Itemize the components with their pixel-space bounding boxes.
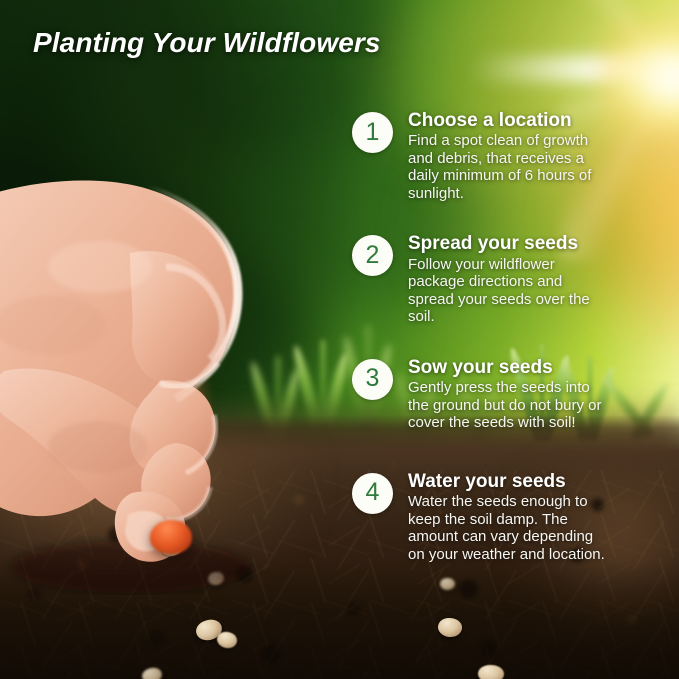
falling-seed [150, 520, 192, 554]
step-body-4: Water the seeds enough to keep the soil … [408, 493, 608, 563]
step-item-1: 1 Choose a location Find a spot clean of… [352, 110, 652, 202]
step-body-1: Find a spot clean of growth and debris, … [408, 132, 608, 202]
step-heading-1: Choose a location [408, 110, 608, 131]
step-number-badge-1: 1 [352, 112, 393, 153]
step-number-2: 2 [366, 243, 380, 268]
step-item-2: 2 Spread your seeds Follow your wildflow… [352, 233, 652, 325]
step-heading-4: Water your seeds [408, 471, 608, 492]
step-item-4: 4 Water your seeds Water the seeds enoug… [352, 471, 652, 563]
step-number-badge-2: 2 [352, 235, 393, 276]
step-item-3: 3 Sow your seeds Gently press the seeds … [352, 357, 652, 432]
step-body-3: Gently press the seeds into the ground b… [408, 379, 608, 432]
step-text-1: Choose a location Find a spot clean of g… [408, 110, 608, 202]
step-heading-3: Sow your seeds [408, 357, 608, 378]
step-number-1: 1 [366, 120, 380, 145]
steps-list: 1 Choose a location Find a spot clean of… [352, 110, 652, 563]
page-title: Planting Your Wildflowers [33, 27, 381, 59]
step-heading-2: Spread your seeds [408, 233, 608, 254]
step-number-badge-3: 3 [352, 359, 393, 400]
step-number-badge-4: 4 [352, 473, 393, 514]
step-text-3: Sow your seeds Gently press the seeds in… [408, 357, 608, 432]
step-text-4: Water your seeds Water the seeds enough … [408, 471, 608, 563]
step-text-2: Spread your seeds Follow your wildflower… [408, 233, 608, 325]
step-number-3: 3 [366, 366, 380, 391]
infographic-poster: Planting Your Wildflowers 1 Choose a loc… [0, 0, 679, 679]
step-body-2: Follow your wildflower package direction… [408, 256, 608, 326]
step-number-4: 4 [366, 480, 380, 505]
